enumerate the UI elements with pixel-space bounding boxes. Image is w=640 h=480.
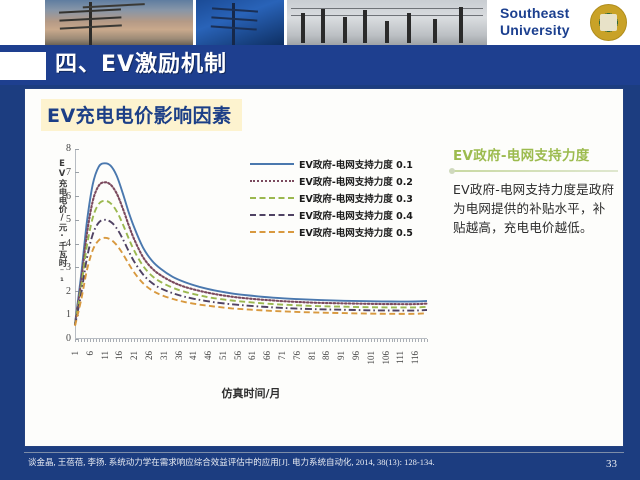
legend-item[interactable]: EV政府-电网支持力度 0.1 — [250, 155, 413, 172]
info-panel-heading: EV政府-电网支持力度 — [453, 147, 618, 165]
chart-y-tick: 6 — [66, 192, 71, 202]
chart-x-tick: 51 — [219, 351, 228, 360]
chart-x-tick: 11 — [101, 351, 110, 360]
chart-x-tick: 81 — [308, 351, 317, 360]
chart-x-axis-label: 仿真时间/月 — [75, 385, 427, 401]
chart-series-line-4 — [75, 238, 427, 326]
footer-divider — [24, 452, 624, 453]
university-name-line2: University — [500, 22, 570, 39]
slide-root: Southeast University 四、EV激励机制 EV充电电价影响因素… — [0, 0, 640, 480]
page-number: 33 — [606, 458, 617, 470]
pylon-graphic — [69, 6, 111, 40]
legend-label: EV政府-电网支持力度 0.1 — [299, 157, 413, 171]
chart-y-tick: 1 — [66, 310, 71, 320]
chart-x-tick: 71 — [278, 351, 287, 360]
content-card: EV充电电价影响因素 EV充电电价/元·千瓦时⁻¹ 012345678 EV政府… — [24, 88, 624, 447]
banner-image-substation — [287, 0, 487, 45]
banner-blank-left — [0, 0, 45, 45]
chart-x-tick: 106 — [382, 351, 391, 365]
card-subtitle: EV充电电价影响因素 — [41, 99, 242, 131]
chart-y-tick: 7 — [66, 168, 71, 178]
header-banner: Southeast University — [0, 0, 640, 45]
university-name-line1: Southeast — [500, 5, 570, 22]
chart-x-tick: 101 — [367, 351, 376, 365]
chart-x-tick: 16 — [115, 351, 124, 360]
info-panel-divider — [453, 170, 618, 172]
chart-y-tick: 0 — [66, 334, 71, 344]
legend-label: EV政府-电网支持力度 0.5 — [299, 225, 413, 239]
legend-swatch-icon — [250, 227, 294, 237]
chart-y-tick: 8 — [66, 144, 71, 154]
banner-image-transmission-tower-sunset — [45, 0, 193, 45]
chart-x-tick: 1 — [71, 351, 80, 356]
university-name: Southeast University — [500, 5, 570, 39]
legend-label: EV政府-电网支持力度 0.2 — [299, 174, 413, 188]
footer-citation: 谈金晶, 王蓓蓓, 李扬. 系统动力学在需求响应综合效益评估中的应用[J]. 电… — [28, 456, 435, 468]
legend-swatch-icon — [250, 210, 294, 220]
info-panel: EV政府-电网支持力度 EV政府-电网支持力度是政府为电网提供的补贴水平，补贴越… — [453, 147, 618, 237]
chart-x-tick: 66 — [263, 351, 272, 360]
chart-x-tick: 111 — [396, 351, 405, 364]
legend-item[interactable]: EV政府-电网支持力度 0.5 — [250, 223, 413, 240]
chart-x-tick: 61 — [248, 351, 257, 360]
chart-y-tick: 2 — [66, 287, 71, 297]
chart-x-tick: 21 — [130, 351, 139, 360]
university-seal-icon — [590, 4, 627, 41]
chart-legend: EV政府-电网支持力度 0.1EV政府-电网支持力度 0.2EV政府-电网支持力… — [250, 155, 413, 240]
chart-x-tick: 26 — [145, 351, 154, 360]
chart-x-tick: 96 — [352, 351, 361, 360]
chart-x-tick: 6 — [86, 351, 95, 356]
banner-image-transmission-tower-blue — [196, 0, 284, 45]
legend-item[interactable]: EV政府-电网支持力度 0.4 — [250, 206, 413, 223]
line-chart: EV充电电价/元·千瓦时⁻¹ 012345678 EV政府-电网支持力度 0.1… — [53, 141, 433, 401]
legend-swatch-icon — [250, 159, 294, 169]
title-notch-decoration — [0, 52, 46, 80]
chart-x-tick-marks — [75, 339, 427, 343]
chart-x-tick: 36 — [175, 351, 184, 360]
legend-swatch-icon — [250, 193, 294, 203]
legend-swatch-icon — [250, 176, 294, 186]
chart-plot-area: 012345678 EV政府-电网支持力度 0.1EV政府-电网支持力度 0.2… — [75, 149, 427, 339]
chart-x-tick-labels: 1611162126313641465156616671768186919610… — [75, 351, 427, 385]
info-panel-body: EV政府-电网支持力度是政府为电网提供的补贴水平，补贴越高，充电电价越低。 — [453, 180, 618, 237]
chart-y-tick: 5 — [66, 215, 71, 225]
page-title: 四、EV激励机制 — [55, 50, 227, 80]
chart-x-tick: 76 — [293, 351, 302, 360]
chart-x-tick: 56 — [234, 351, 243, 360]
legend-label: EV政府-电网支持力度 0.3 — [299, 191, 413, 205]
legend-item[interactable]: EV政府-电网支持力度 0.2 — [250, 172, 413, 189]
legend-item[interactable]: EV政府-电网支持力度 0.3 — [250, 189, 413, 206]
chart-y-tick: 4 — [66, 239, 71, 249]
chart-x-tick: 46 — [204, 351, 213, 360]
chart-y-tick: 3 — [66, 263, 71, 273]
chart-x-tick: 91 — [337, 351, 346, 360]
chart-x-tick: 86 — [322, 351, 331, 360]
chart-x-tick: 41 — [189, 351, 198, 360]
chart-x-tick: 116 — [411, 351, 420, 364]
legend-label: EV政府-电网支持力度 0.4 — [299, 208, 413, 222]
chart-y-axis-label: EV充电电价/元·千瓦时⁻¹ — [51, 159, 67, 349]
chart-x-tick: 31 — [160, 351, 169, 360]
